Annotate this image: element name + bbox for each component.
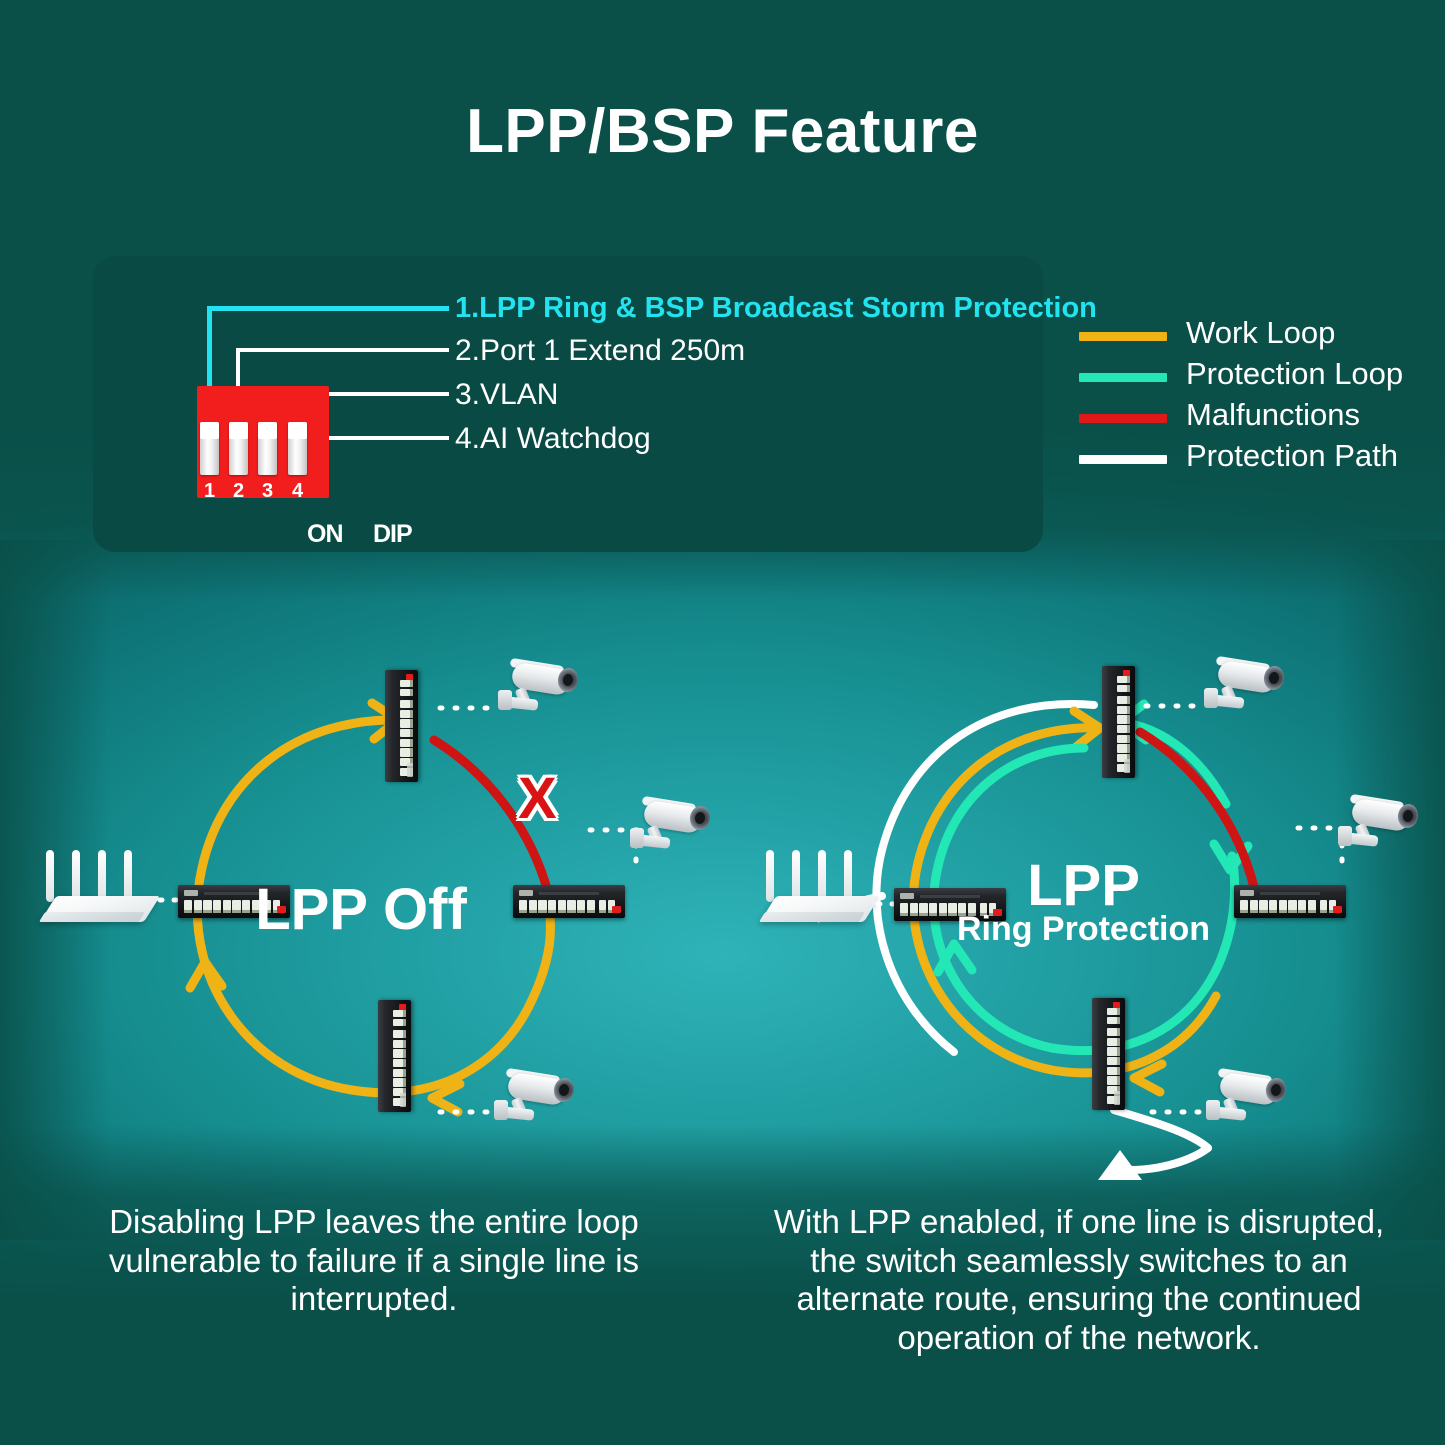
dip-number-3: 3 [258,480,277,503]
dip-switch-3[interactable] [258,422,277,475]
switch-left-north [385,670,418,782]
camera-right-north [1204,658,1290,720]
dip-on-label: ON [307,520,343,549]
dip-switch-4[interactable] [288,422,307,475]
camera-left-north [498,660,584,722]
diagram-left-label: LPP Off [0,876,722,943]
legend-label-malfunctions: Malfunctions [1186,397,1360,433]
legend-label-work-loop: Work Loop [1186,315,1335,351]
legend-swatch-work-loop [1079,332,1167,341]
page-title: LPP/BSP Feature [0,96,1445,167]
legend-item-protection-loop: Protection Loop [1079,359,1419,400]
break-marker-x: X [518,765,557,832]
diagram-right-label-main: LPP [722,852,1445,919]
camera-left-east [630,798,716,860]
leader-line-1-horizontal [207,306,449,311]
dip-switch-2[interactable] [229,422,248,475]
switch-left-south [378,1000,411,1112]
legend: Work Loop Protection Loop Malfunctions P… [1079,318,1419,482]
infographic-canvas: LPP/BSP Feature ON DIP 1 2 3 4 1.LPP Rin… [0,0,1445,1445]
feature-label-1: 1.LPP Ring & BSP Broadcast Storm Protect… [455,292,1097,325]
feature-label-3: 3.VLAN [455,378,558,412]
camera-right-south [1206,1070,1292,1132]
legend-swatch-protection-loop [1079,373,1167,382]
diagram-right-label-sub: Ring Protection [722,910,1445,949]
dip-number-1: 1 [200,480,219,503]
legend-item-protection-path: Protection Path [1079,441,1419,482]
legend-swatch-malfunctions [1079,414,1167,423]
switch-right-north [1102,666,1135,778]
camera-right-east [1338,796,1424,858]
dip-dip-label: DIP [373,520,412,549]
legend-item-malfunctions: Malfunctions [1079,400,1419,441]
leader-line-2-horizontal [236,348,449,352]
legend-item-work-loop: Work Loop [1079,318,1419,359]
caption-left: Disabling LPP leaves the entire loop vul… [72,1203,676,1319]
legend-swatch-protection-path [1079,455,1167,464]
diagram-lpp-ring-protection: LPP Ring Protection [722,600,1445,1200]
legend-label-protection-loop: Protection Loop [1186,356,1403,392]
switch-right-south [1092,998,1125,1110]
dip-number-2: 2 [229,480,248,503]
diagram-lpp-off: X LPP Off [0,600,722,1200]
camera-left-south [494,1070,580,1132]
legend-label-protection-path: Protection Path [1186,438,1398,474]
caption-right: With LPP enabled, if one line is disrupt… [764,1203,1394,1357]
feature-label-4: 4.AI Watchdog [455,422,651,456]
feature-label-2: 2.Port 1 Extend 250m [455,334,745,368]
dip-switch-1[interactable] [200,422,219,475]
dip-feature-card: ON DIP 1 2 3 4 1.LPP Ring & BSP Broadcas… [93,256,1043,552]
dip-number-4: 4 [288,480,307,503]
